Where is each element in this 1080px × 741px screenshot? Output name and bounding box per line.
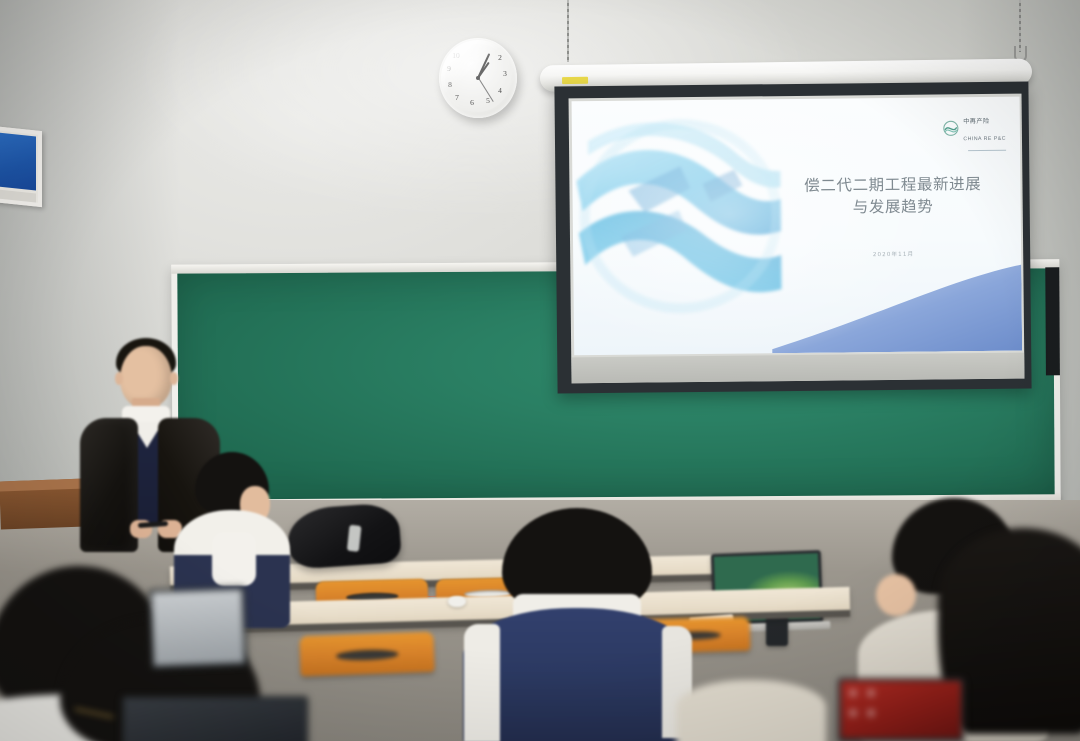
chair-mid-left: [299, 632, 434, 677]
laptop-right-screen: [841, 681, 961, 738]
slide-wave-graphic: [771, 259, 1022, 354]
laptop-bottom-left-wallpaper: [152, 589, 244, 665]
laptop-bottom-lid: [122, 696, 308, 741]
coat-tag: [347, 525, 362, 552]
presenter-ear-left: [115, 372, 123, 385]
clock-numeral-2: 2: [495, 53, 505, 62]
laptop-right-desktop-icon-4: [867, 709, 875, 717]
laptop-bottom-screen: [125, 699, 305, 741]
logo-english-text: CHINA RE P&C: [963, 136, 1006, 142]
student-left-mid-shirt: [212, 532, 256, 586]
slide-date: 2020年11月: [788, 249, 999, 259]
laptop-right-desktop-icon-2: [867, 689, 875, 697]
projection-screen-surface: 中再产险 CHINA RE P&C 偿二代二期工程最新进展 与发展趋势 2020…: [569, 94, 1025, 384]
warning-label-sticker: [562, 77, 588, 84]
china-re-swoosh-mark-icon: [943, 120, 959, 136]
clock-numeral-10: 10: [451, 51, 461, 60]
laptop-right-lid: [838, 678, 964, 741]
clock-face: 2 3 4 5 6 7 8 9 10: [445, 44, 511, 112]
brand-logo: 中再产险 CHINA RE P&C: [943, 111, 1006, 152]
blackboard-right-dark-edge: [1045, 267, 1060, 375]
student-front-right: [686, 640, 816, 741]
notice-board-panel: [0, 131, 36, 190]
clock-numeral-9: 9: [444, 64, 454, 73]
logo-underline: [968, 150, 1006, 152]
slide-title-line2: 与发展趋势: [788, 195, 999, 219]
notice-board-ledge: [0, 188, 36, 202]
student-center-sleeve-left: [464, 624, 500, 741]
projection-screen: 中再产险 CHINA RE P&C 偿二代二期工程最新进展 与发展趋势 2020…: [554, 82, 1031, 394]
screen-chain-right: [1019, 0, 1021, 52]
logo-chinese-text: 中再产险: [963, 118, 989, 125]
laptop-bottom-left[interactable]: [149, 586, 248, 669]
slide: 中再产险 CHINA RE P&C 偿二代二期工程最新进展 与发展趋势 2020…: [572, 97, 1023, 356]
clock-center-pin: [476, 76, 480, 80]
student-front-right-torso: [676, 680, 826, 741]
laptop-right-wallpaper: [841, 681, 961, 738]
laptop-bottom-left-screen: [152, 589, 244, 665]
laptop-bottom-left-lid: [149, 586, 248, 669]
notice-board: [0, 125, 42, 207]
clock-numeral-8: 8: [445, 80, 455, 89]
student-center: [462, 508, 692, 741]
clock-numeral-3: 3: [500, 69, 510, 78]
student-right-hand: [876, 574, 916, 616]
clock-numeral-6: 6: [467, 98, 477, 107]
wall-clock: 2 3 4 5 6 7 8 9 10: [439, 38, 517, 118]
clock-numeral-7: 7: [452, 93, 462, 102]
clock-numeral-4: 4: [495, 86, 505, 95]
laptop-right-desktop-icon-1: [849, 689, 857, 697]
laptop-bottom[interactable]: [122, 696, 308, 741]
slide-title-line1: 偿二代二期工程最新进展: [804, 175, 981, 195]
laptop-right-desktop-icon-3: [849, 709, 857, 717]
slide-title: 偿二代二期工程最新进展 与发展趋势: [787, 173, 998, 219]
laptop-right[interactable]: [838, 678, 964, 741]
presenter-ear-right: [170, 372, 178, 385]
screen-lower-border: [571, 353, 1024, 384]
slide-artwork: [574, 113, 786, 320]
classroom-photo-scene: 2 3 4 5 6 7 8 9 10: [0, 0, 1080, 741]
clock-minute-hand: [477, 53, 490, 78]
screen-chain-left: [567, 0, 569, 62]
laptop-bottom-wallpaper: [125, 699, 305, 741]
